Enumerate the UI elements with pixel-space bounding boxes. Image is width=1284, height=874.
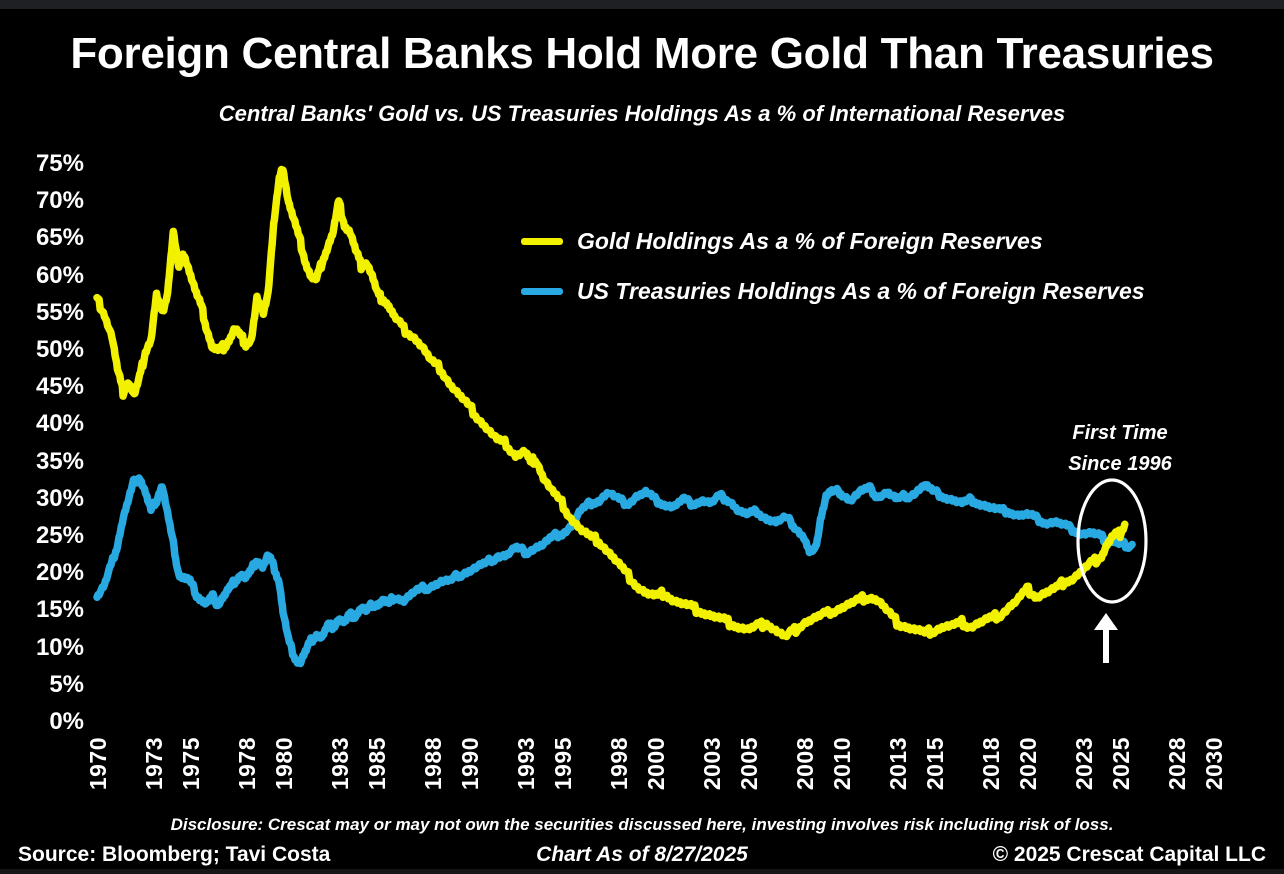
- chart-frame: Foreign Central Banks Hold More Gold Tha…: [0, 0, 1284, 874]
- annotation-line-1: First Time: [1040, 418, 1200, 449]
- legend-label-gold: Gold Holdings As a % of Foreign Reserves: [577, 228, 1043, 255]
- legend-item-treasuries: US Treasuries Holdings As a % of Foreign…: [521, 266, 1181, 316]
- legend-swatch-gold: [521, 238, 563, 245]
- disclosure-text: Disclosure: Crescat may or may not own t…: [0, 815, 1284, 835]
- bottom-bezel: [0, 869, 1284, 874]
- legend-label-treasuries: US Treasuries Holdings As a % of Foreign…: [577, 278, 1145, 305]
- legend-item-gold: Gold Holdings As a % of Foreign Reserves: [521, 216, 1181, 266]
- annotation-line-2: Since 1996: [1040, 449, 1200, 480]
- callout-arrow-icon: [1094, 613, 1118, 663]
- legend-swatch-treasuries: [521, 288, 563, 295]
- series-line-treasuries: [97, 478, 1132, 663]
- chart-annotation: First Time Since 1996: [1040, 418, 1200, 480]
- copyright-text: © 2025 Crescat Capital LLC: [993, 843, 1266, 867]
- chart-legend: Gold Holdings As a % of Foreign Reserves…: [521, 216, 1181, 316]
